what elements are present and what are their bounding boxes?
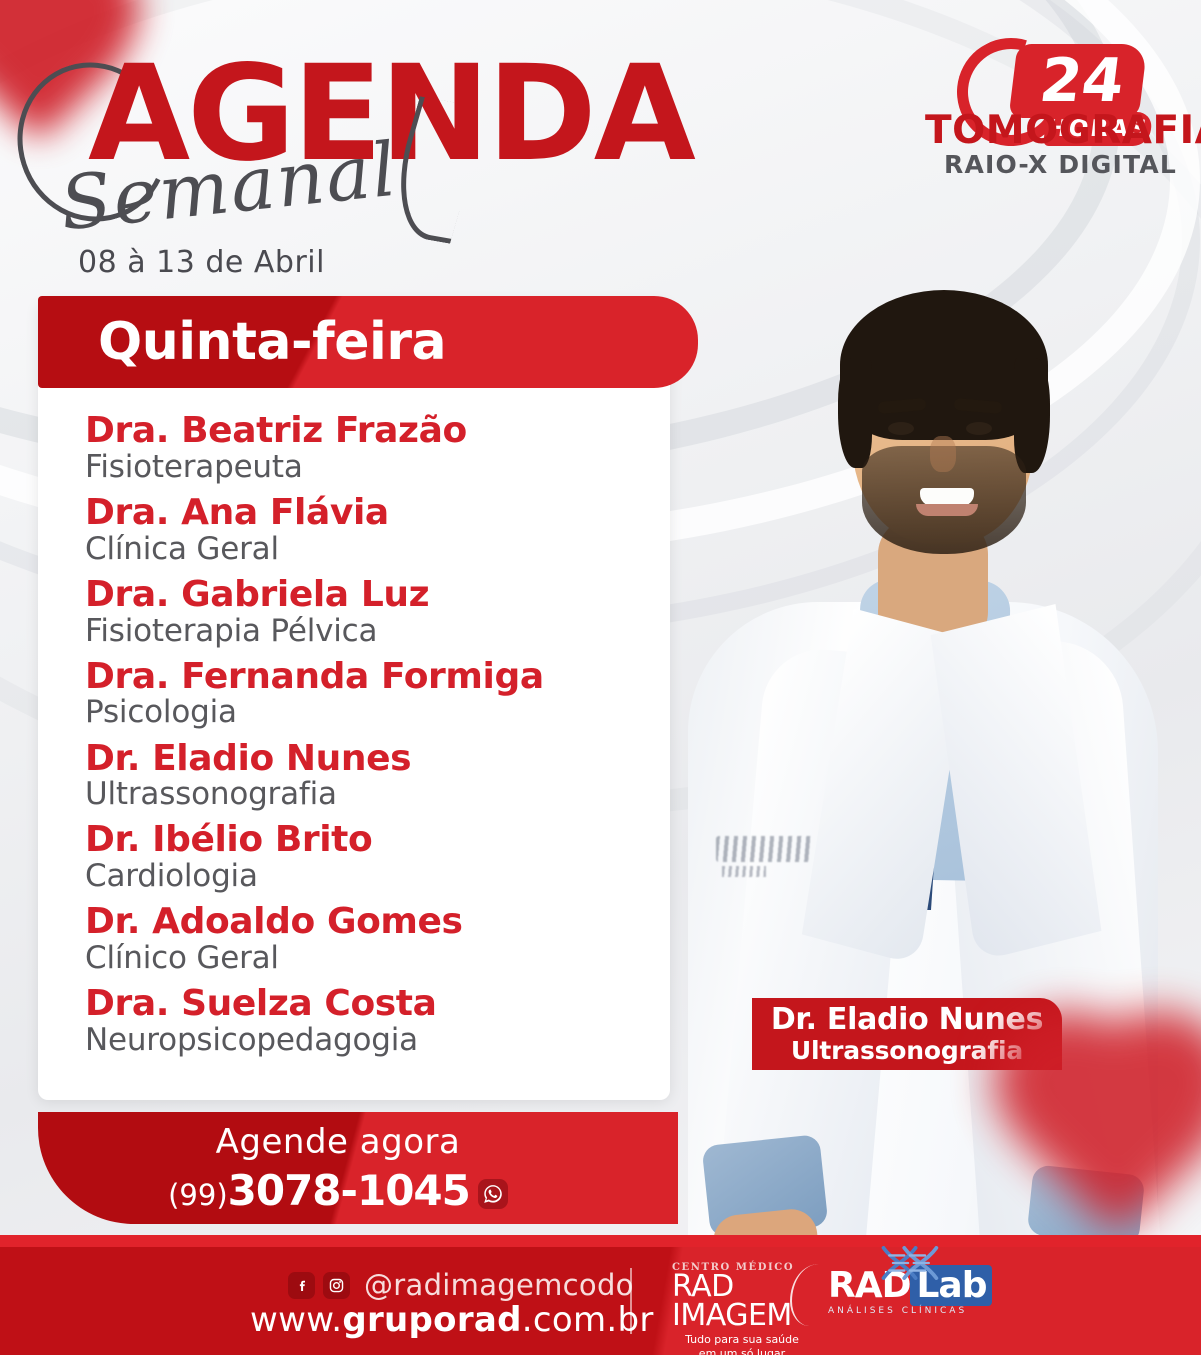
list-item[interactable]: Dra. Fernanda Formiga Psicologia <box>85 658 645 730</box>
phone-number: 3078-1045 <box>228 1166 470 1215</box>
featured-doctor-specialty: Ultrassonografia <box>752 1036 1062 1065</box>
list-item[interactable]: Dra. Suelza Costa Neuropsicopedagogia <box>85 985 645 1057</box>
phone-contact[interactable]: (99)3078-1045 <box>38 1166 638 1215</box>
social-links[interactable]: @radimagemcodo <box>288 1268 634 1302</box>
service-secondary: RAIO-X DIGITAL <box>925 150 1177 179</box>
day-label: Quinta-feira <box>98 312 446 372</box>
doctor-name: Dra. Gabriela Luz <box>85 576 645 614</box>
doctor-specialty: Clínica Geral <box>85 532 645 566</box>
doctor-specialty: Fisioterapia Pélvica <box>85 614 645 648</box>
coat-embroidery-sub <box>722 866 766 877</box>
website-suffix: .com.br <box>522 1300 654 1340</box>
website-prefix: www. <box>250 1300 342 1340</box>
doctor-name: Dr. Adoaldo Gomes <box>85 903 645 941</box>
doctor-name: Dr. Ibélio Brito <box>85 821 645 859</box>
partner-tagline-line1: Tudo para sua saúde <box>672 1333 812 1347</box>
instagram-icon[interactable] <box>323 1272 350 1299</box>
social-handle[interactable]: @radimagemcodo <box>364 1268 634 1302</box>
list-item[interactable]: Dr. Eladio Nunes Ultrassonografia <box>85 740 645 812</box>
whatsapp-icon[interactable] <box>478 1179 508 1209</box>
doctor-specialty: Clínico Geral <box>85 941 645 975</box>
list-item[interactable]: Dr. Adoaldo Gomes Clínico Geral <box>85 903 645 975</box>
doctor-list: Dra. Beatriz Frazão Fisioterapeuta Dra. … <box>85 412 645 1067</box>
doctor-name: Dra. Ana Flávia <box>85 494 645 532</box>
partner-tagline: Tudo para sua saúde em um só lugar <box>672 1333 812 1355</box>
cta-label: Agende agora <box>38 1122 638 1162</box>
dna-helix-icon <box>876 1246 942 1280</box>
list-item[interactable]: Dra. Ana Flávia Clínica Geral <box>85 494 645 566</box>
featured-doctor-name: Dr. Eladio Nunes <box>752 1002 1062 1037</box>
list-item[interactable]: Dra. Gabriela Luz Fisioterapia Pélvica <box>85 576 645 648</box>
featured-doctor-photo <box>630 250 1201 1260</box>
coat-embroidery <box>716 836 812 862</box>
service-primary: TOMOGRAFIA <box>925 108 1177 153</box>
date-range: 08 à 13 de Abril <box>78 245 325 280</box>
doctor-specialty: Psicologia <box>85 695 645 729</box>
partner-tagline-line2: em um só lugar <box>672 1347 812 1355</box>
partner-subtitle: ANÁLISES CLÍNICAS <box>828 1306 988 1316</box>
partner-logo-radlab: RADLab ANÁLISES CLÍNICAS <box>828 1268 988 1316</box>
doctor-specialty: Ultrassonografia <box>85 777 645 811</box>
list-item[interactable]: Dr. Ibélio Brito Cardiologia <box>85 821 645 893</box>
doctor-name: Dra. Beatriz Frazão <box>85 412 645 450</box>
doctor-specialty: Cardiologia <box>85 859 645 893</box>
doctor-specialty: Neuropsicopedagogia <box>85 1023 645 1057</box>
doctor-name: Dra. Fernanda Formiga <box>85 658 645 696</box>
list-item[interactable]: Dra. Beatriz Frazão Fisioterapeuta <box>85 412 645 484</box>
agenda-semanal-poster: AGENDA Semanal 08 à 13 de Abril 24 HORAS… <box>0 0 1201 1355</box>
website-brand: gruporad <box>342 1300 521 1340</box>
website-url[interactable]: www.gruporad.com.br <box>250 1300 654 1340</box>
doctor-specialty: Fisioterapeuta <box>85 450 645 484</box>
doctor-name: Dra. Suelza Costa <box>85 985 645 1023</box>
doctor-name: Dr. Eladio Nunes <box>85 740 645 778</box>
facebook-icon[interactable] <box>288 1272 315 1299</box>
footer-divider <box>630 1268 632 1334</box>
badge-number: 24 <box>1023 48 1141 114</box>
footer-accent-strip <box>0 1235 1201 1247</box>
partner-logo-radimagem: CENTRO MÉDICO RAD IMAGEM Tudo para sua s… <box>672 1262 812 1355</box>
phone-area-code: (99) <box>168 1178 228 1212</box>
